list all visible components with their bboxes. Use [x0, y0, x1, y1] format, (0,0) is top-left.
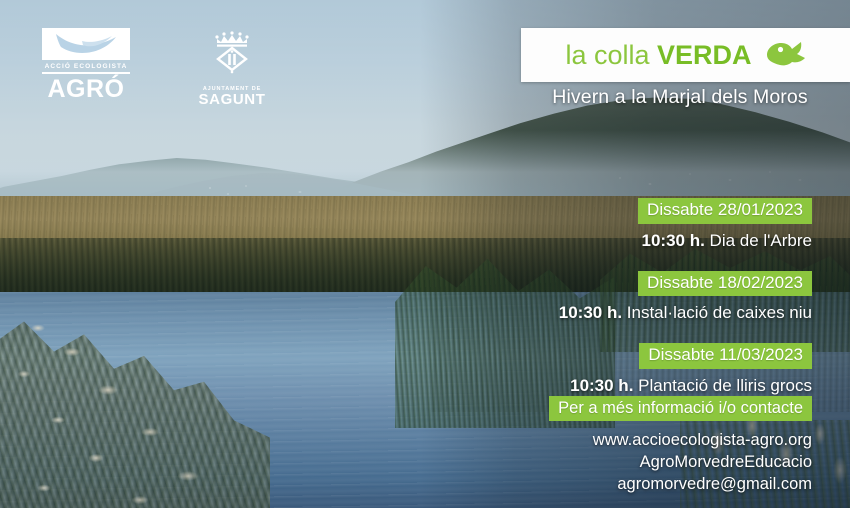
banner-title-bold: VERDA: [657, 40, 752, 70]
event-item: Dissabte 18/02/2023 10:30 h. Instal·laci…: [430, 271, 812, 324]
event-item: Dissabte 28/01/2023 10:30 h. Dia de l'Ar…: [430, 198, 812, 251]
event-time: 10:30 h.: [559, 303, 622, 322]
sagunt-wordmark: SAGUNT: [199, 92, 266, 109]
contact-lines: www.accioecologista-agro.org AgroMorvedr…: [430, 430, 812, 495]
contact-email[interactable]: agromorvedre@gmail.com: [430, 474, 812, 496]
contact-block: Per a més informació i/o contacte www.ac…: [430, 396, 812, 495]
event-item: Dissabte 11/03/2023 10:30 h. Plantació d…: [430, 343, 812, 396]
agro-wordmark: AGRÓ: [48, 76, 125, 102]
contact-website[interactable]: www.accioecologista-agro.org: [430, 430, 812, 452]
poster-subtitle: Hivern a la Marjal dels Moros: [510, 86, 850, 109]
sagunt-logo: AJUNTAMENT DE SAGUNT: [186, 28, 278, 109]
banner-title-light: la colla: [565, 40, 657, 70]
event-time: 10:30 h.: [570, 376, 633, 395]
contact-heading-badge: Per a més informació i/o contacte: [549, 396, 812, 421]
agro-divider: [42, 72, 130, 74]
event-date-badge: Dissabte 11/03/2023: [639, 343, 812, 369]
green-bird-icon: [764, 38, 806, 73]
event-date-badge: Dissabte 18/02/2023: [638, 271, 812, 297]
agro-subtitle: ACCIÓ ECOLOGISTA: [45, 63, 128, 70]
event-title: Plantació de lliris grocs: [633, 376, 812, 395]
logo-group: ACCIÓ ECOLOGISTA AGRÓ: [40, 28, 278, 109]
event-title: Instal·lació de caixes niu: [622, 303, 812, 322]
poster: ACCIÓ ECOLOGISTA AGRÓ: [0, 0, 850, 508]
event-detail: 10:30 h. Dia de l'Arbre: [430, 231, 812, 251]
events-list: Dissabte 28/01/2023 10:30 h. Dia de l'Ar…: [430, 198, 812, 396]
event-detail: 10:30 h. Instal·lació de caixes niu: [430, 303, 812, 323]
agro-logo: ACCIÓ ECOLOGISTA AGRÓ: [40, 28, 132, 102]
event-time: 10:30 h.: [642, 231, 705, 250]
event-detail: 10:30 h. Plantació de lliris grocs: [430, 376, 812, 396]
bird-in-box-icon: [42, 28, 130, 60]
title-banner: la colla VERDA: [521, 28, 850, 82]
reed-plumes-left: [0, 300, 320, 508]
contact-social-handle[interactable]: AgroMorvedreEducacio: [430, 452, 812, 474]
event-date-badge: Dissabte 28/01/2023: [638, 198, 812, 224]
sagunt-crest-icon: [204, 30, 260, 83]
event-title: Dia de l'Arbre: [705, 231, 812, 250]
banner-title: la colla VERDA: [565, 42, 751, 69]
